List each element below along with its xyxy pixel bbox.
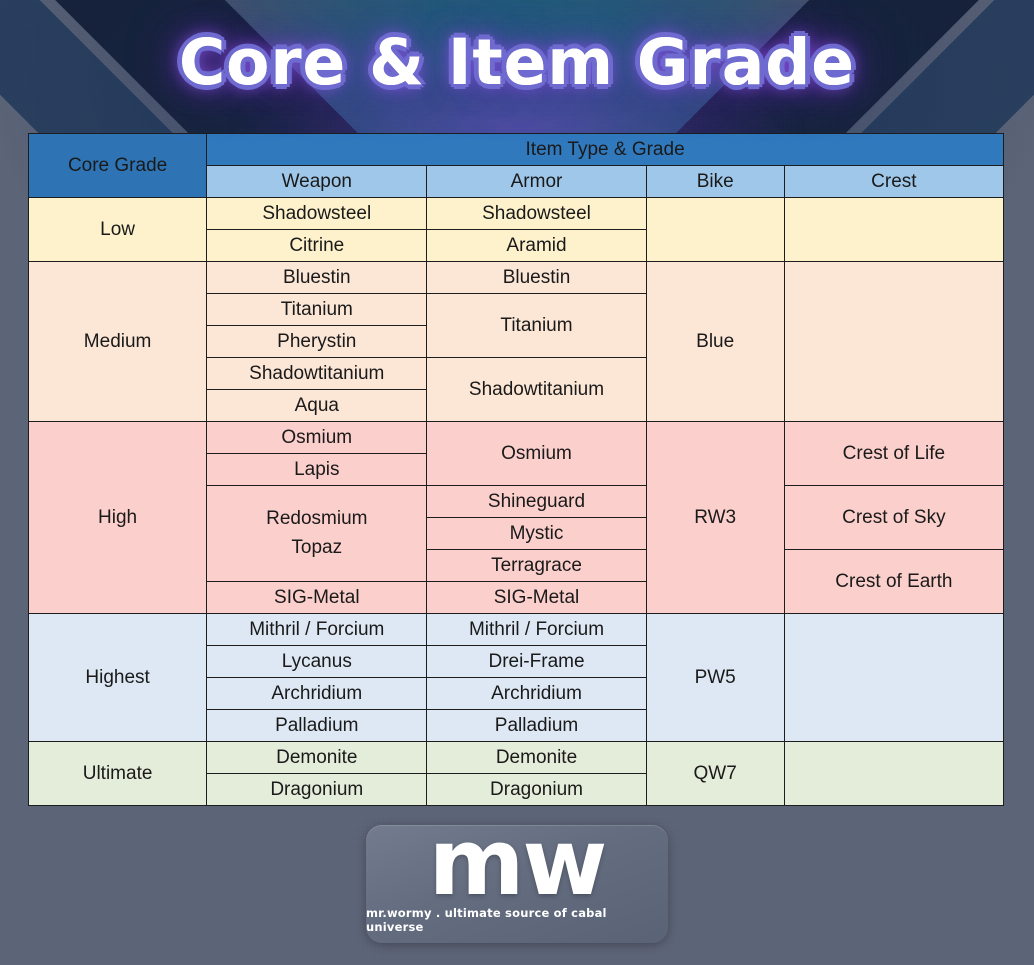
cell-high-armor-5: SIG-Metal: [427, 582, 646, 614]
cell-low-weapon-1: Shadowsteel: [207, 198, 427, 230]
cell-high-crest-2: Crest of Sky: [784, 486, 1003, 550]
cell-high-armor-2: Shineguard: [427, 486, 646, 518]
cell-low-armor-1: Shadowsteel: [427, 198, 646, 230]
logo-tagline: mr.wormy . ultimate source of cabal univ…: [366, 906, 668, 934]
table-row: Medium Bluestin Bluestin Blue: [29, 262, 1004, 294]
grade-label-low: Low: [29, 198, 207, 262]
grade-label-medium: Medium: [29, 262, 207, 422]
table-body: Low Shadowsteel Shadowsteel Citrine Aram…: [29, 198, 1004, 806]
cell-medium-crest: [784, 262, 1003, 422]
header-core-grade: Core Grade: [29, 134, 207, 198]
mrwormy-logo-badge: mw mr.wormy . ultimate source of cabal u…: [366, 825, 668, 943]
page-title: Core & Item Grade: [0, 24, 1034, 101]
cell-high-weapon-2: Lapis: [207, 454, 427, 486]
grade-label-ultimate: Ultimate: [29, 742, 207, 806]
page-title-text: Core & Item Grade: [165, 24, 869, 101]
cell-medium-bike: Blue: [646, 262, 784, 422]
cell-ultimate-weapon-1: Demonite: [207, 742, 427, 774]
header-weapon: Weapon: [207, 166, 427, 198]
cell-highest-armor-2: Drei-Frame: [427, 646, 646, 678]
cell-highest-armor-3: Archridium: [427, 678, 646, 710]
table-header: Core Grade Item Type & Grade Weapon Armo…: [29, 134, 1004, 198]
cell-medium-weapon-3: Pherystin: [207, 326, 427, 358]
header-armor: Armor: [427, 166, 646, 198]
cell-highest-crest: [784, 614, 1003, 742]
header-bike: Bike: [646, 166, 784, 198]
cell-low-crest: [784, 198, 1003, 262]
table-row: Low Shadowsteel Shadowsteel: [29, 198, 1004, 230]
cell-highest-weapon-2: Lycanus: [207, 646, 427, 678]
cell-high-armor-4: Terragrace: [427, 550, 646, 582]
cell-ultimate-weapon-2: Dragonium: [207, 774, 427, 806]
cell-high-armor-1: Osmium: [427, 422, 646, 486]
cell-medium-weapon-5: Aqua: [207, 390, 427, 422]
cell-high-weapon-1: Osmium: [207, 422, 427, 454]
cell-highest-weapon-1: Mithril / Forcium: [207, 614, 427, 646]
cell-ultimate-armor-2: Dragonium: [427, 774, 646, 806]
cell-ultimate-armor-1: Demonite: [427, 742, 646, 774]
cell-high-bike: RW3: [646, 422, 784, 614]
cell-high-crest-1: Crest of Life: [784, 422, 1003, 486]
cell-low-bike: [646, 198, 784, 262]
cell-high-weapon-3-line1: Redosmium: [266, 508, 367, 529]
grade-label-high: High: [29, 422, 207, 614]
cell-medium-armor-3: Shadowtitanium: [427, 358, 646, 422]
grade-table-container: Core Grade Item Type & Grade Weapon Armo…: [28, 133, 1004, 806]
grade-label-highest: Highest: [29, 614, 207, 742]
cell-high-weapon-4: SIG-Metal: [207, 582, 427, 614]
cell-highest-armor-4: Palladium: [427, 710, 646, 742]
table-row: Highest Mithril / Forcium Mithril / Forc…: [29, 614, 1004, 646]
table-header-row-1: Core Grade Item Type & Grade: [29, 134, 1004, 166]
cell-high-crest-3: Crest of Earth: [784, 550, 1003, 614]
cell-ultimate-crest: [784, 742, 1003, 806]
logo-mark: mw: [429, 826, 606, 900]
header-crest: Crest: [784, 166, 1003, 198]
cell-highest-armor-1: Mithril / Forcium: [427, 614, 646, 646]
cell-low-weapon-2: Citrine: [207, 230, 427, 262]
table-row: High Osmium Osmium RW3 Crest of Life: [29, 422, 1004, 454]
core-item-grade-table: Core Grade Item Type & Grade Weapon Armo…: [28, 133, 1004, 806]
cell-medium-weapon-2: Titanium: [207, 294, 427, 326]
cell-medium-weapon-1: Bluestin: [207, 262, 427, 294]
cell-high-weapon-3: RedosmiumTopaz: [207, 486, 427, 582]
cell-medium-armor-1: Bluestin: [427, 262, 646, 294]
cell-low-armor-2: Aramid: [427, 230, 646, 262]
cell-highest-bike: PW5: [646, 614, 784, 742]
cell-medium-armor-2: Titanium: [427, 294, 646, 358]
cell-high-weapon-3-line2: Topaz: [291, 537, 342, 558]
cell-high-armor-3: Mystic: [427, 518, 646, 550]
cell-ultimate-bike: QW7: [646, 742, 784, 806]
table-row: Ultimate Demonite Demonite QW7: [29, 742, 1004, 774]
cell-highest-weapon-4: Palladium: [207, 710, 427, 742]
cell-medium-weapon-4: Shadowtitanium: [207, 358, 427, 390]
header-item-type-grade: Item Type & Grade: [207, 134, 1004, 166]
cell-highest-weapon-3: Archridium: [207, 678, 427, 710]
